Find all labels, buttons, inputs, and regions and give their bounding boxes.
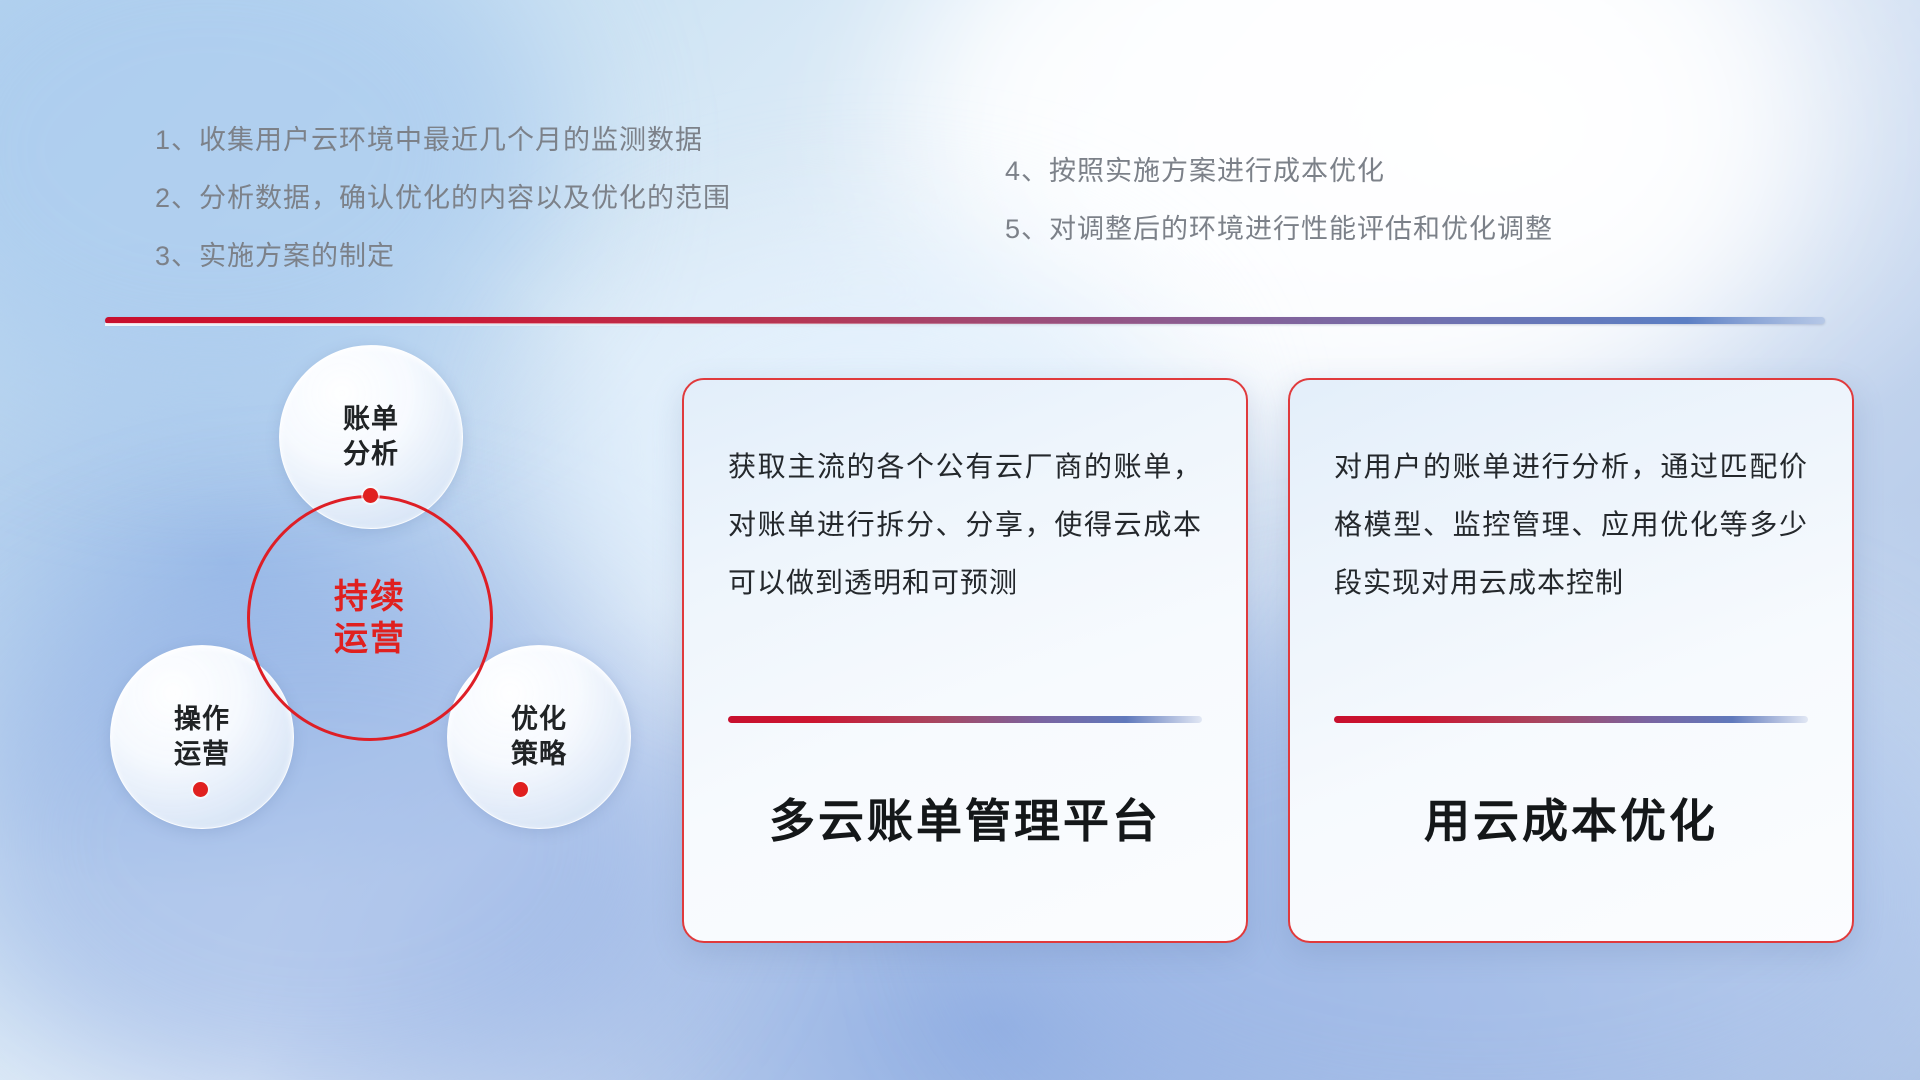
feature-card-title: 多云账单管理平台 — [728, 785, 1202, 851]
bullet-item-2: 2、分析数据，确认优化的内容以及优化的范围 — [155, 185, 731, 212]
feature-card-cost-optimization[interactable]: 对用户的账单进行分析，通过匹配价格模型、监控管理、应用优化等多少段实现对用云成本… — [1288, 378, 1854, 943]
venn-node-label-line1: 优化 — [511, 702, 567, 737]
feature-card-body: 对用户的账单进行分析，通过匹配价格模型、监控管理、应用优化等多少段实现对用云成本… — [1334, 438, 1808, 672]
feature-card-body: 获取主流的各个公有云厂商的账单，对账单进行拆分、分享，使得云成本可以做到透明和可… — [728, 438, 1202, 672]
venn-center-label-line1: 持续 — [334, 576, 406, 619]
venn-center-label-line2: 运营 — [334, 618, 406, 661]
feature-card-rule — [1334, 716, 1808, 723]
bullet-item-5: 5、对调整后的环境进行性能评估和优化调整 — [1005, 216, 1553, 243]
venn-connector-dot-left — [193, 782, 208, 797]
bullet-item-3: 3、实施方案的制定 — [155, 243, 731, 270]
venn-node-label-line2: 分析 — [343, 437, 399, 472]
bullet-list-right: 4、按照实施方案进行成本优化 5、对调整后的环境进行性能评估和优化调整 — [1005, 158, 1553, 274]
venn-center-label: 持续 运营 — [247, 495, 493, 741]
feature-card-rule — [728, 716, 1202, 723]
slide-canvas: 1、收集用户云环境中最近几个月的监测数据 2、分析数据，确认优化的内容以及优化的… — [0, 0, 1920, 1080]
venn-connector-dot-right — [513, 782, 528, 797]
bullet-item-4: 4、按照实施方案进行成本优化 — [1005, 158, 1553, 185]
venn-node-label-line1: 操作 — [174, 702, 230, 737]
bullet-list-left: 1、收集用户云环境中最近几个月的监测数据 2、分析数据，确认优化的内容以及优化的… — [155, 127, 731, 301]
venn-node-label-line1: 账单 — [343, 402, 399, 437]
bullet-item-1: 1、收集用户云环境中最近几个月的监测数据 — [155, 127, 731, 154]
venn-connector-dot-top — [363, 488, 378, 503]
feature-card-billing-platform[interactable]: 获取主流的各个公有云厂商的账单，对账单进行拆分、分享，使得云成本可以做到透明和可… — [682, 378, 1248, 943]
venn-node-label-line2: 策略 — [511, 737, 567, 772]
venn-diagram: 账单 分析 操作 运营 优化 策略 持续 运营 — [95, 345, 635, 945]
section-divider — [105, 317, 1825, 324]
venn-node-label-line2: 运营 — [174, 737, 230, 772]
feature-card-title: 用云成本优化 — [1334, 785, 1808, 851]
